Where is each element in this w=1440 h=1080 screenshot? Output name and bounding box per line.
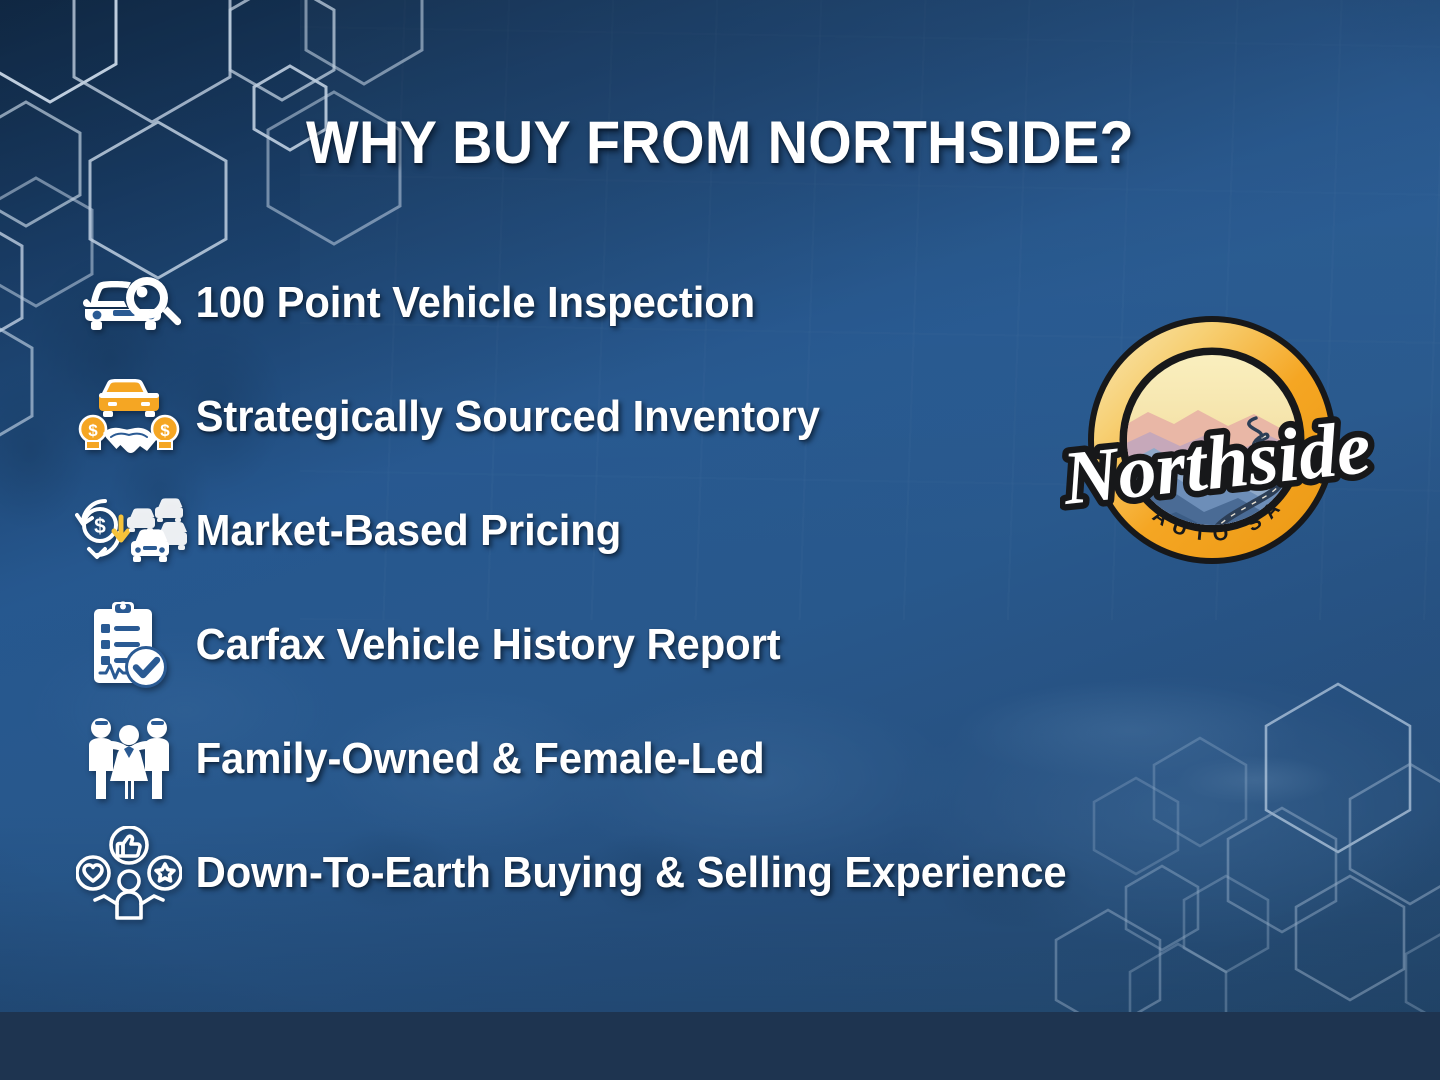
person-thumbsup-heart-star-icon <box>70 825 188 921</box>
car-handshake-money-icon: $ $ <box>70 369 188 465</box>
list-item-label: Down-To-Earth Buying & Selling Experienc… <box>188 848 1067 898</box>
svg-text:$: $ <box>88 421 98 440</box>
list-item-label: Market-Based Pricing <box>188 506 621 556</box>
list-item-label: Strategically Sourced Inventory <box>188 392 820 442</box>
svg-text:$: $ <box>160 421 170 440</box>
three-people-icon <box>70 711 188 807</box>
marketing-slide: WHY BUY FROM NORTHSIDE? <box>0 0 1440 1080</box>
list-item-label: Carfax Vehicle History Report <box>188 620 781 670</box>
car-magnifier-icon <box>70 255 188 351</box>
northside-auto-sales-logo: AUTO SALES Northside Northside <box>1060 308 1380 598</box>
list-item: Down-To-Earth Buying & Selling Experienc… <box>70 816 1250 930</box>
list-item: Family-Owned & Female-Led <box>70 702 1250 816</box>
svg-text:$: $ <box>94 515 106 538</box>
list-item-label: Family-Owned & Female-Led <box>188 734 765 784</box>
clipboard-check-icon <box>70 597 188 693</box>
list-item: Carfax Vehicle History Report <box>70 588 1250 702</box>
page-title: WHY BUY FROM NORTHSIDE? <box>50 108 1389 177</box>
list-item-label: 100 Point Vehicle Inspection <box>188 278 755 328</box>
price-cars-arrows-icon: $ <box>70 483 188 579</box>
bottom-bar <box>0 1012 1440 1080</box>
